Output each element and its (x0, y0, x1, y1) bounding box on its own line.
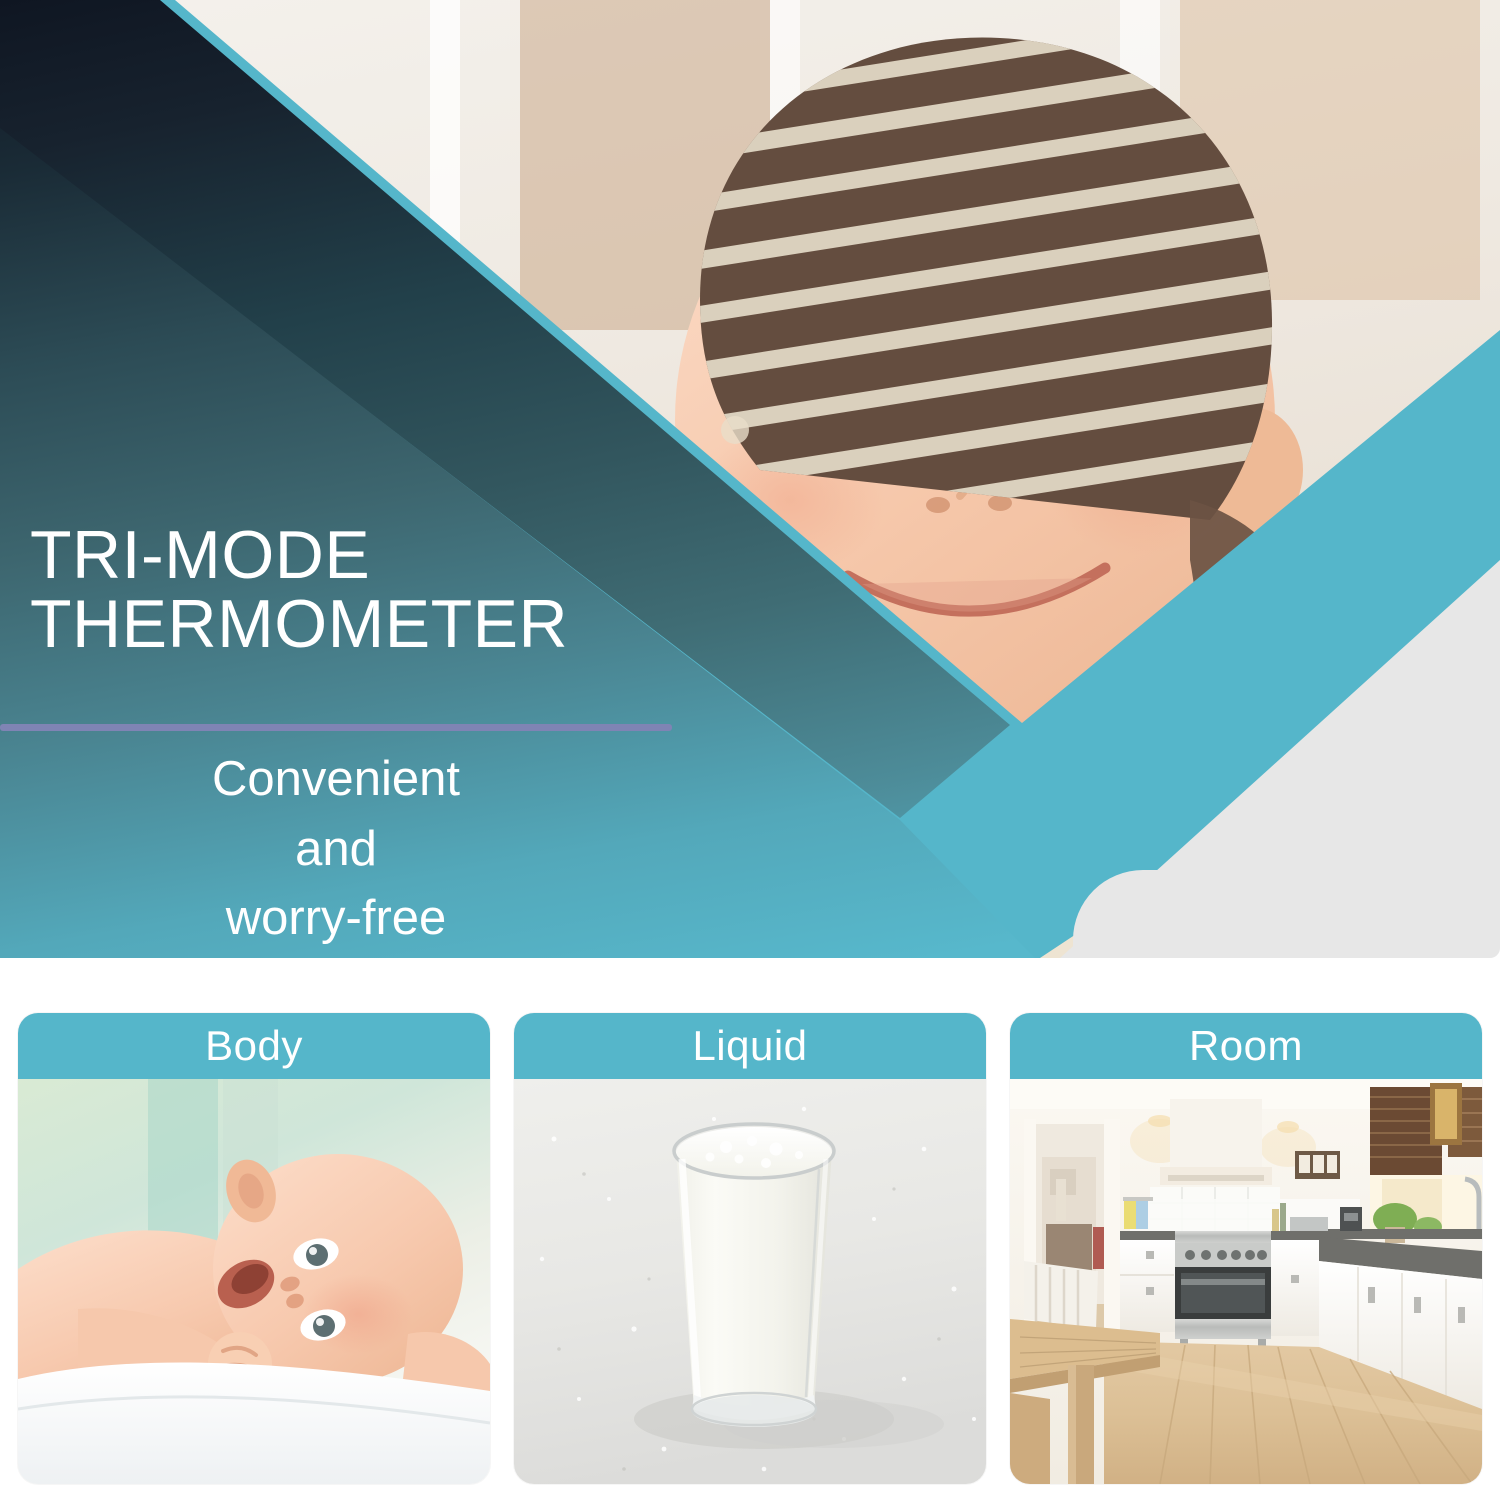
card-header-body: Body (18, 1013, 490, 1079)
hero-section: FRANCIS (0, 0, 1500, 958)
card-header-liquid: Liquid (514, 1013, 986, 1079)
card-header-room: Room (1010, 1013, 1482, 1079)
mode-card-room[interactable]: Room (1010, 1013, 1482, 1484)
product-feature-banner: FRANCIS (0, 0, 1500, 1500)
card-photo-liquid (514, 1079, 986, 1484)
card-label-body: Body (205, 1025, 303, 1067)
title-divider (0, 724, 672, 731)
card-label-liquid: Liquid (692, 1025, 807, 1067)
page-title: TRI-MODE THERMOMETER (30, 521, 670, 660)
card-photo-body (18, 1079, 490, 1484)
hero-subtitle: Convenient and worry-free (0, 745, 672, 954)
mode-card-body[interactable]: Body (18, 1013, 490, 1484)
mode-cards: Body (0, 1013, 1500, 1485)
card-label-room: Room (1189, 1025, 1303, 1067)
card-photo-room (1010, 1079, 1482, 1484)
mode-card-liquid[interactable]: Liquid (514, 1013, 986, 1484)
